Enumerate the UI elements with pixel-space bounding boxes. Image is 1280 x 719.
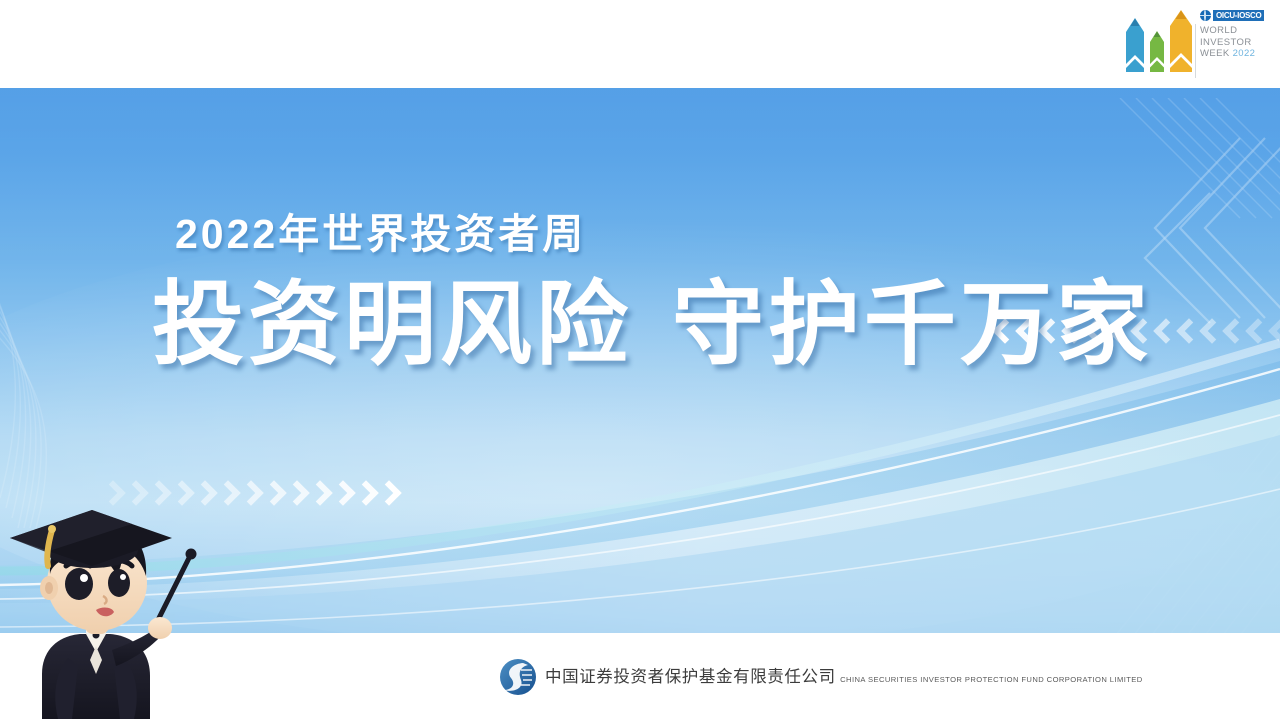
- headline-part-right: 守护千万家: [672, 274, 1152, 376]
- wiw-divider: [1195, 24, 1196, 78]
- pencils-icon: [1118, 8, 1206, 76]
- pencil-green: [1150, 31, 1164, 72]
- hand: [148, 617, 172, 639]
- banner-subheadline: 2022年世界投资者周: [175, 210, 586, 258]
- iosco-label: OICU-IOSCO: [1213, 10, 1264, 21]
- globe-icon: [1200, 10, 1211, 21]
- header-band: OICU-IOSCO WORLD INVESTOR WEEK 2022: [0, 0, 1280, 88]
- sipf-logo-icon: [498, 657, 538, 697]
- wiw-line-week: WEEK 2022: [1200, 48, 1266, 60]
- pencil-blue: [1126, 18, 1144, 72]
- poster-canvas: 2022年世界投资者周 投资明风险守护千万家: [0, 0, 1280, 719]
- sipf-logo-block: 中国证券投资者保护基金有限责任公司 CHINA SECURITIES INVES…: [498, 655, 1143, 699]
- pointer-stick: [155, 549, 197, 627]
- wiw-line-world: WORLD: [1200, 25, 1266, 37]
- wiw-week-label: WEEK: [1200, 48, 1230, 59]
- graduation-cap: [10, 510, 172, 568]
- eye-right: [108, 569, 130, 597]
- pencil-yellow: [1170, 10, 1192, 72]
- sipf-text-block: 中国证券投资者保护基金有限责任公司 CHINA SECURITIES INVES…: [545, 667, 1143, 687]
- wiw-line-investor: INVESTOR: [1200, 37, 1266, 49]
- graduate-mascot-illustration: [0, 488, 215, 719]
- iosco-logo: OICU-IOSCO: [1200, 10, 1266, 21]
- organization-name-en: CHINA SECURITIES INVESTOR PROTECTION FUN…: [840, 675, 1143, 684]
- banner-headline: 投资明风险守护千万家: [152, 270, 1152, 380]
- organization-name-cn: 中国证券投资者保护基金有限责任公司: [545, 668, 836, 686]
- wiw-text-block: OICU-IOSCO WORLD INVESTOR WEEK 2022: [1200, 10, 1266, 82]
- wiw-year-label: 2022: [1233, 48, 1256, 59]
- eye-left: [65, 568, 93, 600]
- headline-part-left: 投资明风险: [152, 274, 632, 376]
- world-investor-week-logo: OICU-IOSCO WORLD INVESTOR WEEK 2022: [1110, 4, 1270, 84]
